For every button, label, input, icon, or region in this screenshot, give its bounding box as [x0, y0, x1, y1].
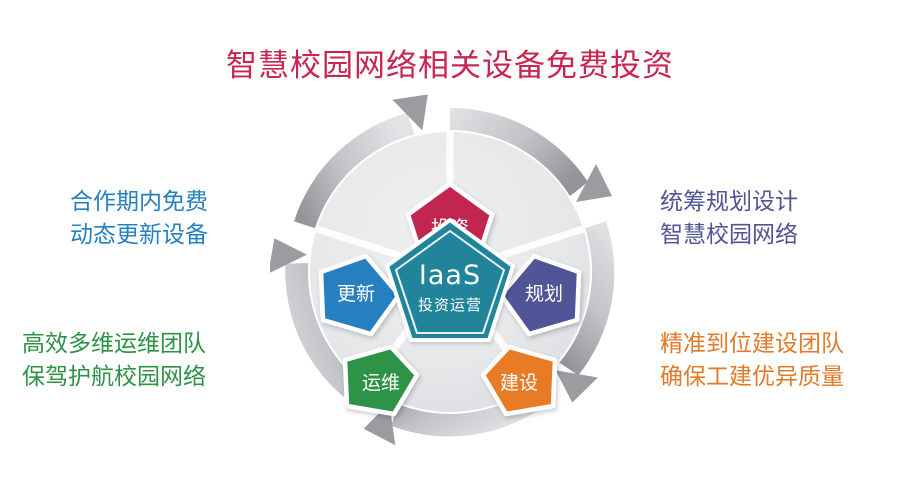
node-plan-label: 规划 — [525, 283, 563, 305]
caption-build: 精准到位建设团队 确保工建优异质量 — [660, 328, 844, 394]
caption-update: 合作期内免费 动态更新设备 — [70, 186, 208, 252]
cycle-diagram: 投资 规划 建设 运维 更新 IaaS 投资运营 — [270, 92, 630, 452]
center-node-subtitle: 投资运营 — [418, 296, 482, 314]
caption-ops: 高效多维运维团队 保驾护航校园网络 — [22, 328, 206, 394]
caption-ops-line-1: 高效多维运维团队 — [22, 328, 206, 361]
caption-plan: 统筹规划设计 智慧校园网络 — [660, 186, 798, 252]
center-node-title: IaaS — [419, 260, 481, 291]
caption-build-line-1: 精准到位建设团队 — [660, 328, 844, 361]
caption-plan-line-1: 统筹规划设计 — [660, 186, 798, 219]
node-build-label: 建设 — [500, 372, 538, 394]
caption-ops-line-2: 保驾护航校园网络 — [22, 361, 206, 394]
caption-update-line-2: 动态更新设备 — [70, 219, 208, 252]
node-ops-label: 运维 — [362, 372, 400, 394]
node-update-label: 更新 — [337, 283, 375, 305]
caption-build-line-2: 确保工建优异质量 — [660, 361, 844, 394]
page-title: 智慧校园网络相关设备免费投资 — [0, 46, 900, 86]
caption-plan-line-2: 智慧校园网络 — [660, 219, 798, 252]
caption-update-line-1: 合作期内免费 — [70, 186, 208, 219]
